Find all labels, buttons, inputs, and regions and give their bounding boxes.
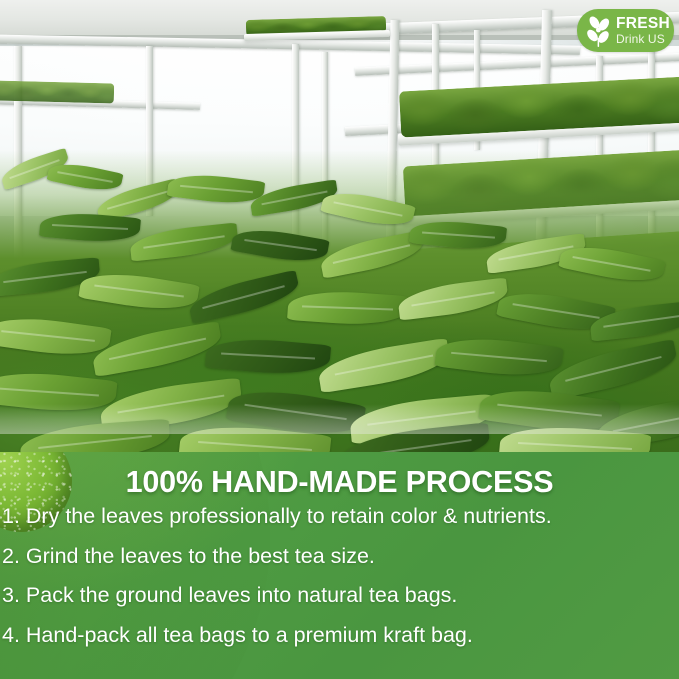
process-step-item: 2. Grind the leaves to the best tea size… bbox=[2, 546, 677, 568]
process-step-item: 3. Pack the ground leaves into natural t… bbox=[2, 585, 677, 607]
panel-title: 100% HAND-MADE PROCESS bbox=[0, 465, 679, 500]
logo-text-block: FRESH Drink US bbox=[616, 16, 670, 46]
process-step-item: 1. Dry the leaves professionally to reta… bbox=[2, 506, 677, 528]
process-step-item: 4. Hand-pack all tea bags to a premium k… bbox=[2, 625, 677, 647]
leaf-cluster-icon bbox=[582, 14, 614, 48]
drying-leaves-shelf-left bbox=[0, 81, 114, 104]
tray-front-edge bbox=[0, 404, 679, 434]
product-infographic: FRESH Drink US 100% HAND-MADE PROCESS 1.… bbox=[0, 0, 679, 679]
fresh-drink-us-logo[interactable]: FRESH Drink US bbox=[577, 9, 674, 52]
process-info-panel: 100% HAND-MADE PROCESS 1. Dry the leaves… bbox=[0, 452, 679, 679]
logo-secondary-text: Drink US bbox=[616, 33, 670, 45]
panel-content: 100% HAND-MADE PROCESS 1. Dry the leaves… bbox=[0, 452, 679, 679]
greenhouse-photo: FRESH Drink US bbox=[0, 0, 679, 452]
process-steps-list: 1. Dry the leaves professionally to reta… bbox=[2, 506, 677, 664]
logo-primary-text: FRESH bbox=[616, 16, 670, 32]
